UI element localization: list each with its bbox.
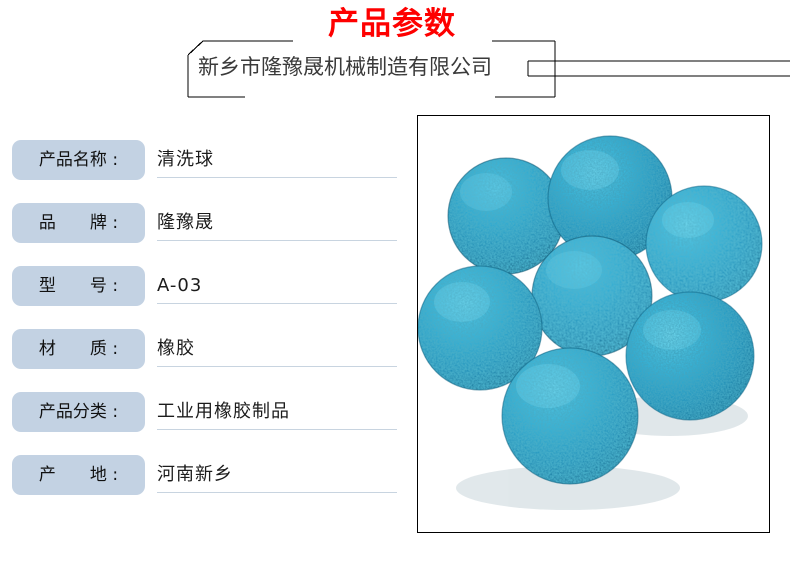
- spec-label-material: 材 质 :: [12, 329, 145, 369]
- cleaning-ball: [502, 348, 638, 484]
- company-name: 新乡市隆豫晟机械制造有限公司: [196, 54, 494, 80]
- spec-label-text: 产品名称 :: [39, 150, 118, 170]
- spec-label-category: 产品分类 :: [12, 392, 145, 432]
- cleaning-ball: [646, 186, 762, 302]
- spec-row: 型 号 : A-03: [0, 258, 410, 321]
- spec-row: 材 质 : 橡胶: [0, 321, 410, 384]
- header-banner: 产品参数 新乡市隆豫晟机械制造有限公司: [0, 0, 790, 112]
- spec-row: 产 地 : 河南新乡: [0, 447, 410, 510]
- spec-row: 产品分类 : 工业用橡胶制品: [0, 384, 410, 447]
- spec-label-text: 产 地 :: [39, 465, 118, 485]
- spec-row: 品 牌 : 隆豫晟: [0, 195, 410, 258]
- product-image-panel: [417, 115, 770, 533]
- spec-value-material: 橡胶: [157, 331, 397, 367]
- spec-label-text: 材 质 :: [39, 339, 118, 359]
- product-parameter-list: 产品名称 : 清洗球 品 牌 : 隆豫晟 型 号 : A-03 材 质 : 橡胶: [0, 132, 410, 510]
- spec-value-text: 清洗球: [157, 149, 214, 171]
- spec-label-origin: 产 地 :: [12, 455, 145, 495]
- spec-value-category: 工业用橡胶制品: [157, 394, 397, 430]
- spec-label-text: 型 号 :: [39, 276, 118, 296]
- spec-value-text: 隆豫晟: [157, 212, 214, 234]
- spec-value-text: A-03: [157, 275, 202, 297]
- cleaning-ball: [626, 292, 754, 420]
- spec-value-text: 工业用橡胶制品: [157, 401, 290, 423]
- spec-value-model: A-03: [157, 268, 397, 304]
- spec-label-brand: 品 牌 :: [12, 203, 145, 243]
- spec-label-product-name: 产品名称 :: [12, 140, 145, 180]
- spec-row: 产品名称 : 清洗球: [0, 132, 410, 195]
- spec-value-origin: 河南新乡: [157, 457, 397, 493]
- product-photo-cleaning-balls: [418, 116, 769, 532]
- spec-label-text: 品 牌 :: [39, 213, 118, 233]
- spec-value-product-name: 清洗球: [157, 142, 397, 178]
- spec-label-model: 型 号 :: [12, 266, 145, 306]
- spec-value-text: 橡胶: [157, 338, 195, 360]
- page-title: 产品参数: [282, 6, 502, 42]
- spec-value-brand: 隆豫晟: [157, 205, 397, 241]
- spec-value-text: 河南新乡: [157, 464, 233, 486]
- spec-label-text: 产品分类 :: [39, 402, 118, 422]
